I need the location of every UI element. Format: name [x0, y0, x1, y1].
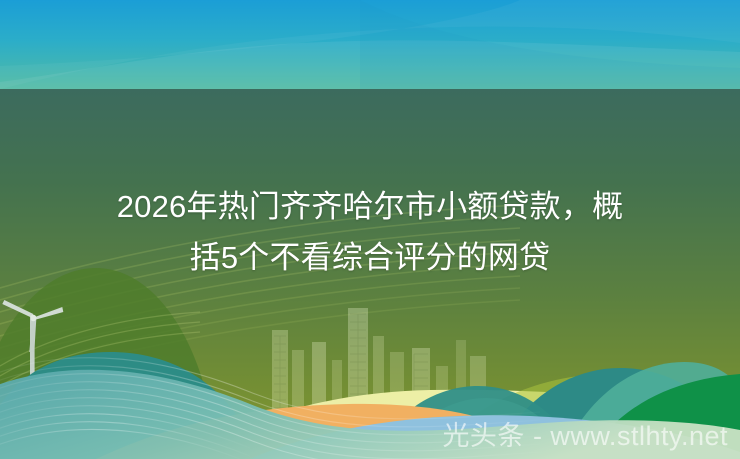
- banner-artwork: [0, 0, 740, 459]
- promo-banner: 2026年热门齐齐哈尔市小额贷款，概 括5个不看综合评分的网贷 光头条 - ww…: [0, 0, 740, 459]
- sky-layer: [0, 0, 740, 89]
- land-layer: [0, 89, 740, 459]
